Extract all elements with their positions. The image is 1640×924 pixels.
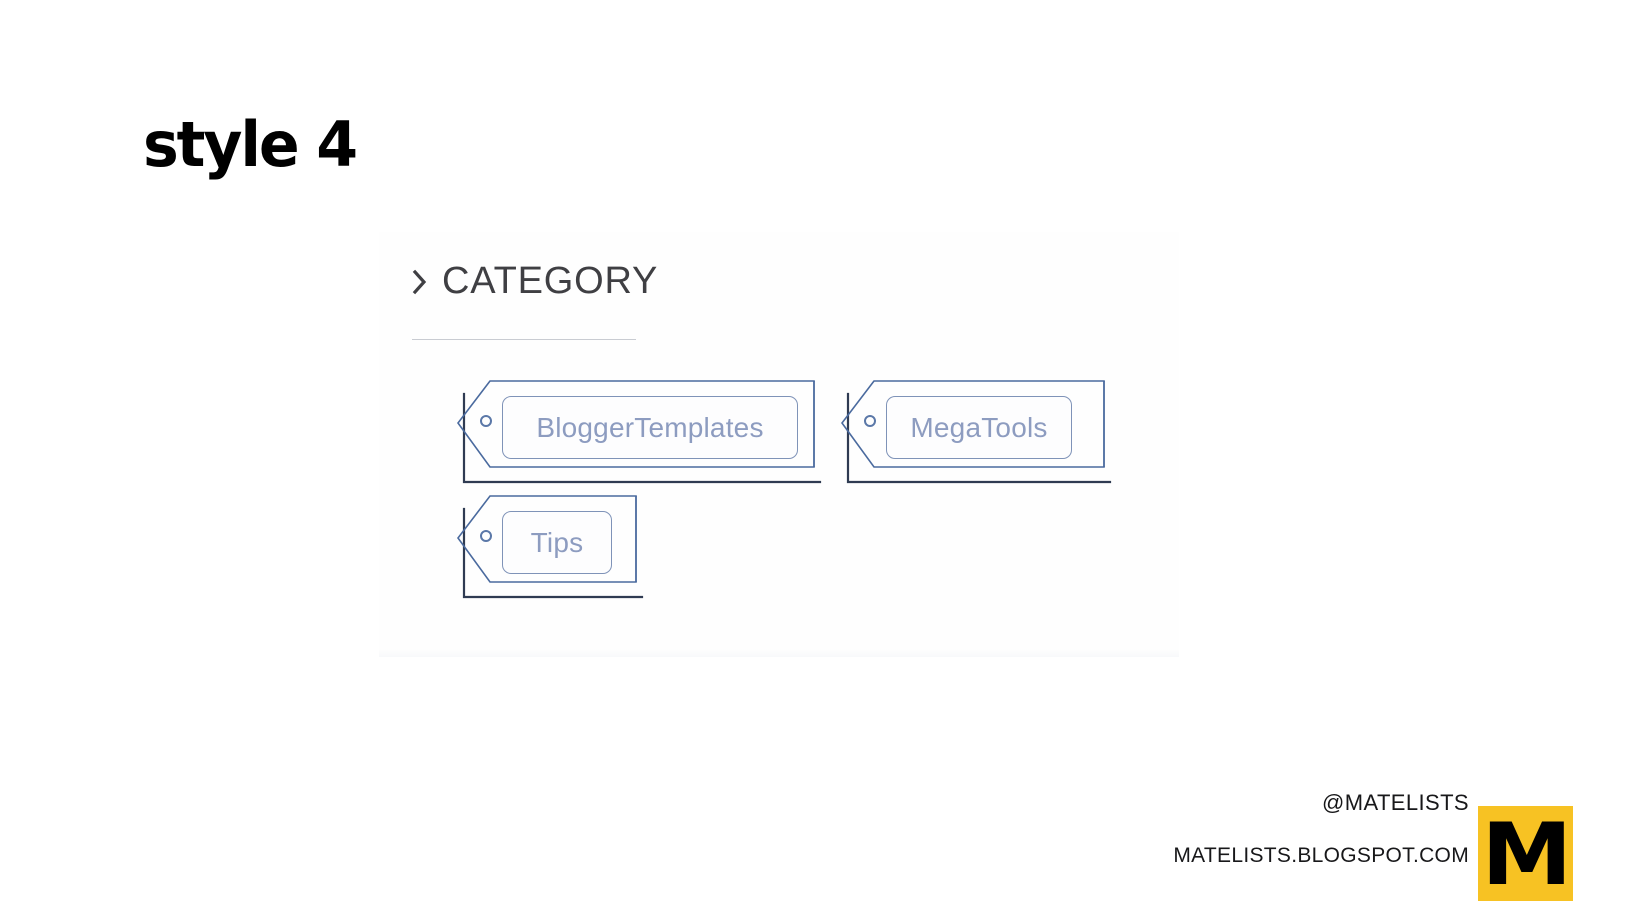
tag-row: Tips	[454, 492, 636, 594]
category-tag[interactable]: BloggerTemplates	[454, 377, 814, 479]
tag-label: BloggerTemplates	[536, 414, 763, 442]
tag-inner-pill: BloggerTemplates	[502, 396, 798, 459]
category-tag[interactable]: Tips	[454, 492, 636, 594]
tag-list: BloggerTemplates MegaTools	[379, 232, 1179, 657]
watermark-handle: @MATELISTS	[1173, 792, 1469, 814]
page-title: style 4	[143, 112, 356, 177]
watermark-url: MATELISTS.BLOGSPOT.COM	[1173, 845, 1469, 866]
brand-logo-letter: M	[1482, 820, 1570, 891]
watermark: @MATELISTS MATELISTS.BLOGSPOT.COM M	[1143, 758, 1573, 878]
category-widget-card: CATEGORY BloggerTemplates	[379, 232, 1179, 657]
tag-inner-pill: MegaTools	[886, 396, 1072, 459]
tag-inner-pill: Tips	[502, 511, 612, 574]
tag-label: Tips	[531, 529, 584, 557]
category-tag[interactable]: MegaTools	[838, 377, 1104, 479]
brand-logo: M	[1478, 806, 1573, 901]
tag-label: MegaTools	[910, 414, 1047, 442]
watermark-text: @MATELISTS MATELISTS.BLOGSPOT.COM	[1173, 792, 1469, 866]
tag-row: BloggerTemplates MegaTools	[454, 377, 1104, 479]
